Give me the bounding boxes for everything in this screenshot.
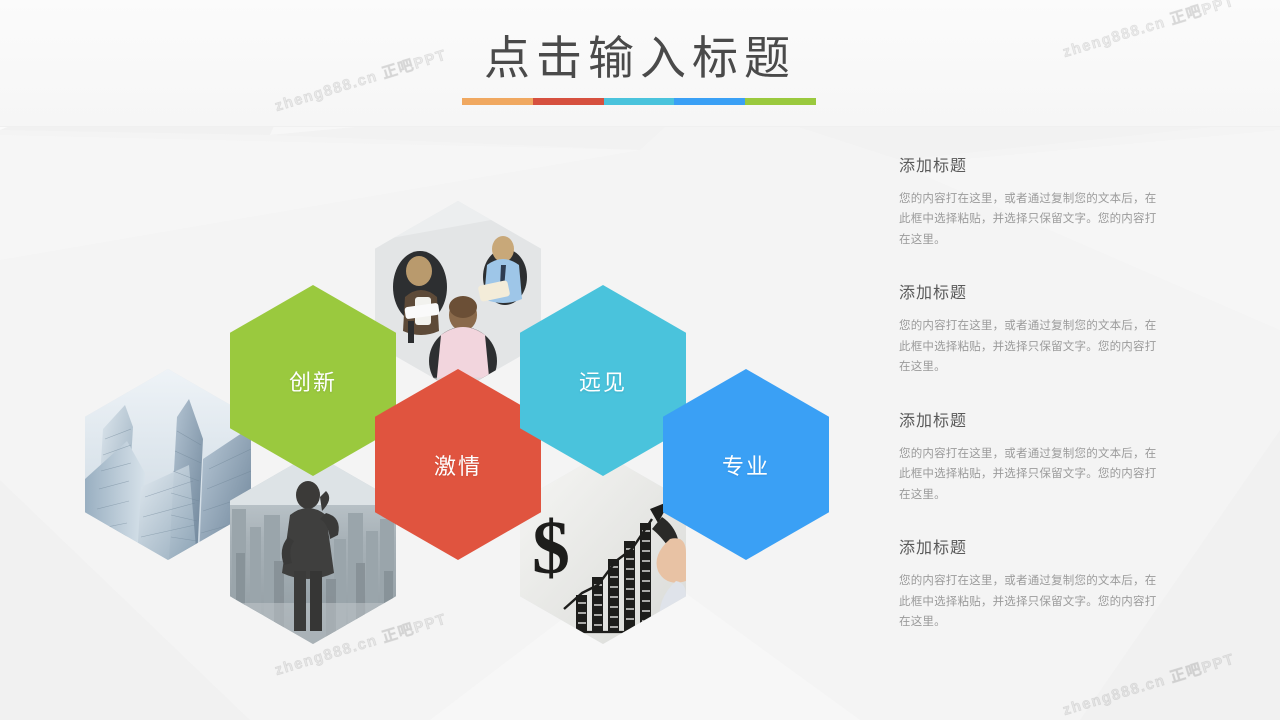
hexagon-cluster: $ (85, 185, 845, 600)
hexagon-professional[interactable]: 专业 (663, 369, 829, 560)
text-block-1-heading: 添加标题 (899, 152, 1161, 176)
text-block-2-body: 您的内容打在这里，或者通过复制您的文本后，在此框中选择粘贴，并选择只保留文字。您… (899, 316, 1161, 377)
rule-segment-orange (462, 98, 533, 105)
rule-segment-cyan (604, 98, 675, 105)
title-underline-rule (462, 98, 816, 105)
text-block-2-heading: 添加标题 (899, 279, 1161, 303)
hexagon-photo-meeting[interactable] (375, 201, 541, 392)
rule-segment-red (533, 98, 604, 105)
text-block-3: 添加标题 您的内容打在这里，或者通过复制您的文本后，在此框中选择粘贴，并选择只保… (899, 407, 1161, 505)
hexagon-passion[interactable]: 激情 (375, 369, 541, 560)
svg-text:$: $ (532, 506, 570, 590)
page-title: 点击输入标题 (462, 26, 818, 91)
text-block-4-heading: 添加标题 (899, 534, 1161, 558)
hexagon-passion-label: 激情 (434, 449, 482, 481)
hexagon-innovation-label: 创新 (289, 365, 337, 397)
text-block-3-body: 您的内容打在这里，或者通过复制您的文本后，在此框中选择粘贴，并选择只保留文字。您… (899, 444, 1161, 505)
text-block-4: 添加标题 您的内容打在这里，或者通过复制您的文本后，在此框中选择粘贴，并选择只保… (899, 534, 1161, 632)
text-block-1-body: 您的内容打在这里，或者通过复制您的文本后，在此框中选择粘贴，并选择只保留文字。您… (899, 189, 1161, 250)
text-block-4-body: 您的内容打在这里，或者通过复制您的文本后，在此框中选择粘贴，并选择只保留文字。您… (899, 571, 1161, 632)
businessman-city-skyline-photo (230, 453, 396, 644)
text-column: 添加标题 您的内容打在这里，或者通过复制您的文本后，在此框中选择粘贴，并选择只保… (899, 152, 1161, 633)
hexagon-photo-building[interactable] (85, 369, 251, 560)
hexagon-vision[interactable]: 远见 (520, 285, 686, 476)
slide-header: 点击输入标题 (0, 0, 1280, 126)
growth-chart-drawing-photo: $ (520, 453, 686, 644)
slide-canvas: 点击输入标题 (0, 0, 1280, 720)
rule-segment-blue (674, 98, 745, 105)
rule-segment-green (745, 98, 816, 105)
business-meeting-photo (375, 201, 541, 392)
text-block-1: 添加标题 您的内容打在这里，或者通过复制您的文本后，在此框中选择粘贴，并选择只保… (899, 152, 1161, 250)
hexagon-photo-city[interactable] (230, 453, 396, 644)
text-block-3-heading: 添加标题 (899, 407, 1161, 431)
text-block-2: 添加标题 您的内容打在这里，或者通过复制您的文本后，在此框中选择粘贴，并选择只保… (899, 279, 1161, 377)
watermark-bottom-right: zheng888.cn 正吧PPT (1060, 648, 1237, 720)
hexagon-vision-label: 远见 (579, 365, 627, 397)
hexagon-professional-label: 专业 (722, 449, 770, 481)
glass-skyscrapers-photo (85, 369, 251, 560)
hexagon-photo-chart[interactable]: $ (520, 453, 686, 644)
hexagon-innovation[interactable]: 创新 (230, 285, 396, 476)
